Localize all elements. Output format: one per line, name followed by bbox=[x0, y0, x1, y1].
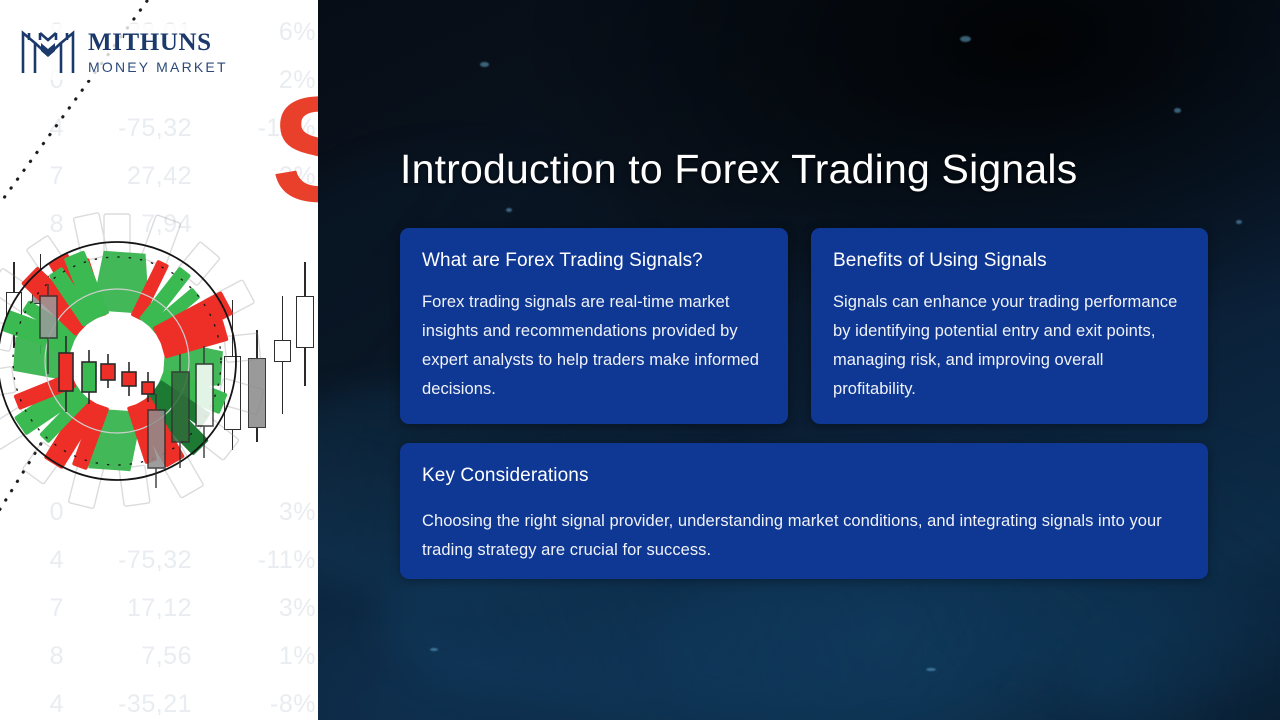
ticker-row: 4-75,32-11% bbox=[0, 536, 318, 584]
card-body: Signals can enhance your trading perform… bbox=[833, 288, 1188, 404]
ticker-cell: 17,12 bbox=[78, 584, 206, 632]
card-benefits-of-using-signals[interactable]: Benefits of Using Signals Signals can en… bbox=[811, 228, 1208, 424]
ticker-cell: -8% bbox=[206, 680, 316, 720]
radial-candlestick-artwork bbox=[0, 196, 282, 526]
ticker-cell: 4 bbox=[0, 680, 78, 720]
ticker-cell: -75,32 bbox=[78, 536, 206, 584]
slide-content: Introduction to Forex Trading Signals Wh… bbox=[318, 0, 1280, 720]
ticker-cell: 7 bbox=[0, 152, 78, 200]
candlestick bbox=[296, 262, 314, 386]
ticker-row: 87,561% bbox=[0, 632, 318, 680]
slide-canvas: 828,016%02%4-75,32-11%727,422%87,94 03%4… bbox=[0, 0, 1280, 720]
ticker-cell: 27,42 bbox=[78, 152, 206, 200]
ticker-row: 717,123% bbox=[0, 584, 318, 632]
left-decorative-panel: 828,016%02%4-75,32-11%727,422%87,94 03%4… bbox=[0, 0, 318, 720]
mithuns-m-monogram-icon bbox=[19, 27, 77, 77]
card-key-considerations[interactable]: Key Considerations Choosing the right si… bbox=[400, 443, 1208, 579]
brand-logo: MITHUNS MONEY MARKET bbox=[16, 24, 236, 80]
ticker-cell: 4 bbox=[0, 536, 78, 584]
card-what-are-signals[interactable]: What are Forex Trading Signals? Forex tr… bbox=[400, 228, 788, 424]
ticker-row: 4-35,21-8% bbox=[0, 680, 318, 720]
card-body: Forex trading signals are real-time mark… bbox=[422, 288, 768, 404]
brand-tagline: MONEY MARKET bbox=[88, 60, 228, 74]
card-heading: Key Considerations bbox=[422, 465, 1190, 488]
ticker-cell: 1% bbox=[206, 632, 316, 680]
card-heading: What are Forex Trading Signals? bbox=[422, 250, 770, 273]
card-heading: Benefits of Using Signals bbox=[833, 250, 1190, 273]
ticker-cell: 3% bbox=[206, 584, 316, 632]
ticker-cell: -75,32 bbox=[78, 104, 206, 152]
right-content-panel: Introduction to Forex Trading Signals Wh… bbox=[318, 0, 1280, 720]
ticker-cell: 7 bbox=[0, 584, 78, 632]
page-title: Introduction to Forex Trading Signals bbox=[400, 146, 1077, 193]
ticker-cell: -35,21 bbox=[78, 680, 206, 720]
brand-name: MITHUNS bbox=[88, 30, 228, 55]
ticker-cell: 8 bbox=[0, 632, 78, 680]
card-body: Choosing the right signal provider, unde… bbox=[422, 507, 1178, 565]
ticker-cell: 7,56 bbox=[78, 632, 206, 680]
ticker-cell: -11% bbox=[206, 536, 316, 584]
